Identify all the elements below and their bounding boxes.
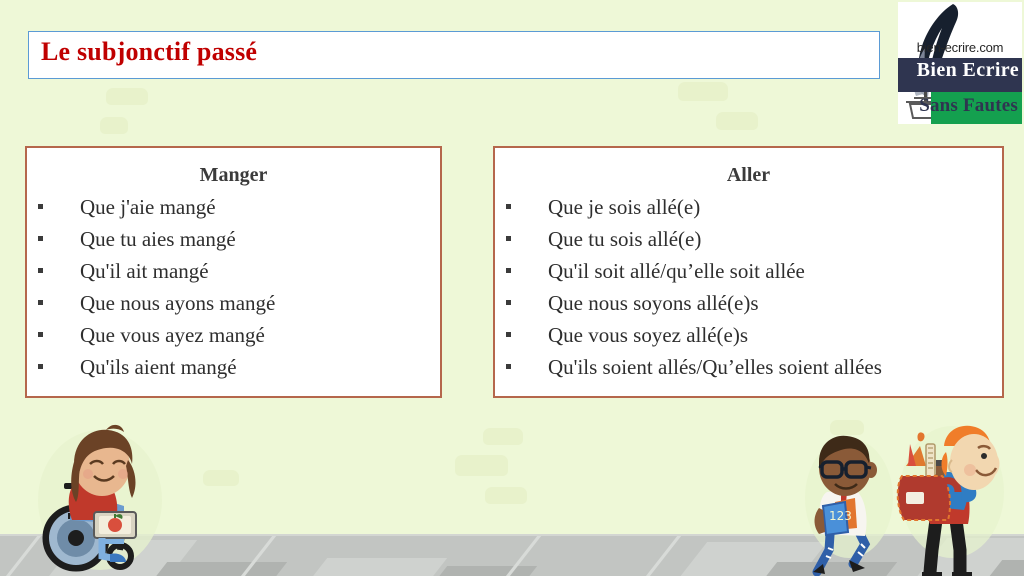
- bullet-icon: [506, 204, 511, 209]
- background-shape: [485, 487, 527, 504]
- list-item-label: Qu'ils soient allés/Qu’elles soient allé…: [548, 355, 882, 379]
- logo-brand-text: Bien Ecrire: [898, 59, 1022, 82]
- brand-logo[interactable]: bien-ecrire.com Bien Ecrire Sans Fautes: [898, 2, 1022, 124]
- logo-domain-text: bien-ecrire.com: [898, 40, 1022, 55]
- background-shape: [678, 82, 728, 101]
- list-item-label: Qu'ils aient mangé: [80, 355, 237, 379]
- list-item: Que je sois allé(e): [495, 191, 1002, 223]
- bullet-icon: [506, 236, 511, 241]
- page-title: Le subjonctif passé: [41, 37, 257, 67]
- bullet-icon: [506, 364, 511, 369]
- list-item-label: Que vous soyez allé(e)s: [548, 323, 748, 347]
- background-shape: [100, 117, 128, 134]
- bullet-icon: [506, 332, 511, 337]
- list-item: Qu'il soit allé/qu’elle soit allée: [495, 255, 1002, 287]
- bullet-icon: [38, 300, 43, 305]
- slide-title-box: Le subjonctif passé: [28, 31, 880, 79]
- background-shape: [716, 112, 758, 130]
- list-item-label: Qu'il soit allé/qu’elle soit allée: [548, 259, 805, 283]
- bullet-icon: [38, 364, 43, 369]
- list-item: Qu'ils aient mangé: [27, 351, 440, 383]
- bullet-icon: [38, 332, 43, 337]
- girl-in-wheelchair-illustration: [28, 420, 178, 576]
- bullet-icon: [506, 268, 511, 273]
- conjugation-box-manger: Manger Que j'aie mangé Que tu aies mangé…: [25, 146, 442, 398]
- conjugation-title: Manger: [27, 164, 440, 187]
- bullet-icon: [38, 204, 43, 209]
- conjugation-box-aller: Aller Que je sois allé(e) Que tu sois al…: [493, 146, 1004, 398]
- bullet-icon: [506, 300, 511, 305]
- list-item: Que tu aies mangé: [27, 223, 440, 255]
- list-item: Que nous soyons allé(e)s: [495, 287, 1002, 319]
- list-item: Qu'ils soient allés/Qu’elles soient allé…: [495, 351, 1002, 383]
- list-item-label: Que nous soyons allé(e)s: [548, 291, 759, 315]
- conjugation-list: Que je sois allé(e) Que tu sois allé(e) …: [495, 191, 1002, 383]
- boy-with-backpack-illustration: [890, 422, 1010, 576]
- conjugation-title: Aller: [495, 164, 1002, 187]
- bullet-icon: [38, 268, 43, 273]
- list-item-label: Que tu sois allé(e): [548, 227, 701, 251]
- list-item-label: Que nous ayons mangé: [80, 291, 275, 315]
- logo-tagline-text: Sans Fautes: [898, 95, 1022, 117]
- list-item-label: Qu'il ait mangé: [80, 259, 209, 283]
- background-shape: [483, 428, 523, 445]
- list-item: Que vous soyez allé(e)s: [495, 319, 1002, 351]
- conjugation-list: Que j'aie mangé Que tu aies mangé Qu'il …: [27, 191, 440, 383]
- list-item: Que nous ayons mangé: [27, 287, 440, 319]
- slide-canvas: Le subjonctif passé bien-ecrire.com Bien…: [0, 0, 1024, 576]
- background-shape: [203, 470, 239, 486]
- list-item: Que vous ayez mangé: [27, 319, 440, 351]
- bullet-icon: [38, 236, 43, 241]
- background-shape: [455, 455, 508, 476]
- list-item-label: Que j'aie mangé: [80, 195, 216, 219]
- floor-seam: [643, 536, 681, 576]
- list-item: Qu'il ait mangé: [27, 255, 440, 287]
- list-item: Que j'aie mangé: [27, 191, 440, 223]
- background-shape: [106, 88, 148, 105]
- list-item-label: Que tu aies mangé: [80, 227, 236, 251]
- svg-text:123: 123: [829, 509, 852, 523]
- list-item: Que tu sois allé(e): [495, 223, 1002, 255]
- floor-tile: [293, 558, 447, 576]
- list-item-label: Que vous ayez mangé: [80, 323, 265, 347]
- list-item-label: Que je sois allé(e): [548, 195, 700, 219]
- boy-with-glasses-illustration: 123: [795, 432, 900, 576]
